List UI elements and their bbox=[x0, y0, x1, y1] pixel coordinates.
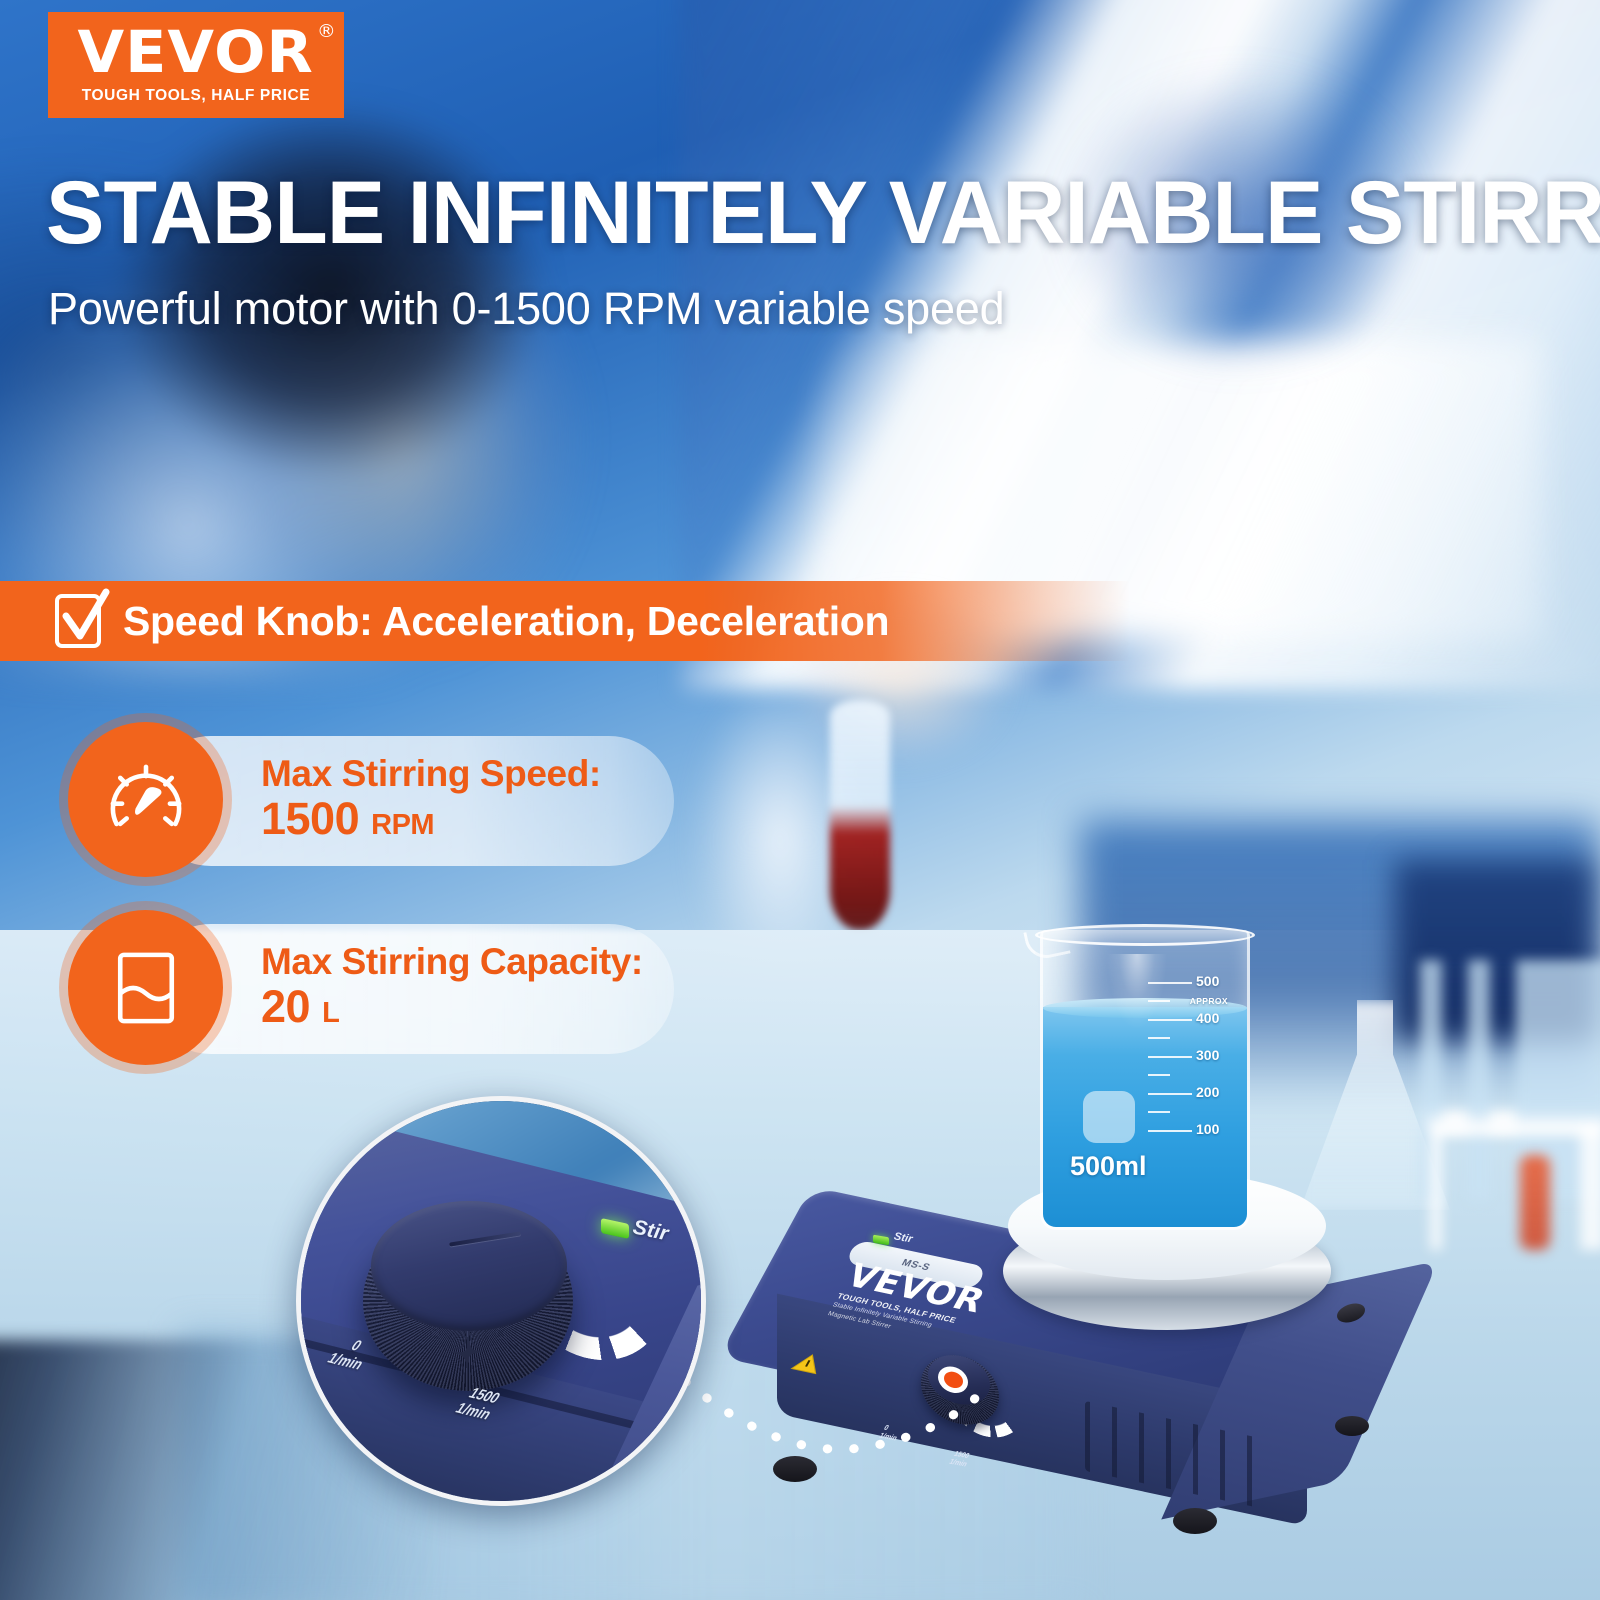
beaker-graduation-scale: 500 400 300 200 100 bbox=[1148, 982, 1224, 1168]
beaker-glyph bbox=[100, 942, 192, 1034]
red-reagent-tube bbox=[1520, 1155, 1550, 1250]
spec-label: Max Stirring Capacity: bbox=[261, 942, 643, 982]
spec-value: 1500 RPM bbox=[261, 794, 601, 844]
page-title: STABLE INFINITELY VARIABLE STIRRING bbox=[46, 168, 1543, 257]
spec-value: 20 L bbox=[261, 982, 643, 1032]
graduation-200: 200 bbox=[1196, 1084, 1219, 1100]
graduation-300: 300 bbox=[1196, 1047, 1219, 1063]
speedometer-icon bbox=[68, 722, 223, 877]
magnified-knob-cap[interactable] bbox=[371, 1201, 567, 1331]
graduation-400: 400 bbox=[1196, 1010, 1219, 1026]
logo-wordmark: VEVOR® bbox=[78, 25, 314, 80]
beaker-liquid-icon bbox=[68, 910, 223, 1065]
feature-banner: Speed Knob: Acceleration, Deceleration bbox=[0, 581, 1130, 661]
feature-spec-speed: Max Stirring Speed: 1500 RPM bbox=[68, 722, 601, 877]
test-tube-sample bbox=[830, 700, 890, 930]
banner-label: Speed Knob: Acceleration, Deceleration bbox=[123, 598, 889, 645]
spec-unit: RPM bbox=[371, 809, 434, 841]
spec-label: Max Stirring Speed: bbox=[261, 754, 601, 794]
speedometer-glyph bbox=[100, 754, 192, 846]
graduation-100: 100 bbox=[1196, 1121, 1219, 1137]
callout-connector-line bbox=[660, 1330, 990, 1470]
graduation-500: 500 bbox=[1196, 973, 1219, 989]
registered-trademark-icon: ® bbox=[317, 23, 337, 40]
logo-text: VEVOR bbox=[78, 18, 314, 86]
device-foot bbox=[1335, 1416, 1369, 1436]
spec-text-speed: Max Stirring Speed: 1500 RPM bbox=[261, 754, 601, 844]
checkbox-checked-icon bbox=[55, 594, 101, 648]
spec-number: 1500 bbox=[261, 793, 359, 844]
checkmark-glyph bbox=[56, 586, 112, 648]
magnified-min-value: 0 bbox=[348, 1337, 366, 1354]
beaker-label-patch bbox=[1083, 1091, 1135, 1143]
page-subtitle: Powerful motor with 0-1500 RPM variable … bbox=[48, 283, 1004, 335]
feature-spec-capacity: Max Stirring Capacity: 20 L bbox=[68, 910, 643, 1065]
beaker-volume-print: 500ml bbox=[1070, 1151, 1147, 1182]
spec-unit: L bbox=[322, 997, 339, 1029]
glass-beaker: APPROX 500 400 300 200 100 500ml bbox=[1040, 930, 1250, 1230]
vevor-logo: VEVOR® TOUGH TOOLS, HALF PRICE bbox=[48, 12, 344, 118]
device-foot bbox=[1173, 1508, 1217, 1534]
logo-tagline: TOUGH TOOLS, HALF PRICE bbox=[82, 87, 311, 105]
knob-detail-magnifier: Stir 0 1/min 1500 1/min bbox=[296, 1096, 706, 1506]
spec-text-capacity: Max Stirring Capacity: 20 L bbox=[261, 942, 643, 1032]
spec-number: 20 bbox=[261, 981, 310, 1032]
test-tube-rack-frame bbox=[1430, 1120, 1600, 1250]
